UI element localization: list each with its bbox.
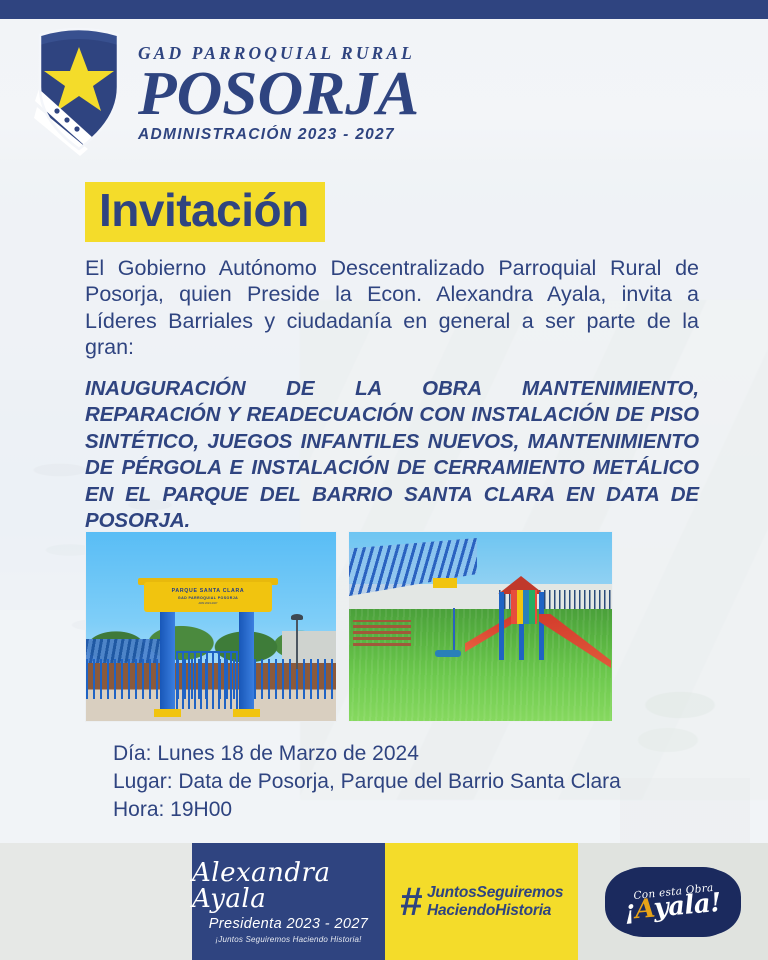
poster-footer: Alexandra Ayala Presidenta 2023 - 2027 ¡… <box>0 843 768 960</box>
shield-star-icon <box>26 25 130 157</box>
signature-role: Presidenta 2023 - 2027 <box>209 916 369 932</box>
playground-photo <box>348 531 613 722</box>
photo-tower-post <box>539 592 544 660</box>
photo-arch-sign: PARQUE SANTA CLARA GAD PARROQUIAL POSORJ… <box>144 582 272 612</box>
photo-arch-sign-line1: PARQUE SANTA CLARA <box>144 588 272 594</box>
invitation-banner: Invitación <box>85 182 325 242</box>
photo-bench <box>353 620 411 646</box>
photo-arch-sign-line3: ADM 2023-2027 <box>144 602 272 605</box>
hashtag-lockup: # JuntosSeguiremos HaciendoHistoria <box>400 884 564 920</box>
photo-column-base-right <box>233 709 260 717</box>
brand-title: POSORJA <box>138 66 420 123</box>
footer-hashtag-panel: # JuntosSeguiremos HaciendoHistoria <box>385 843 578 960</box>
invitation-banner-label: Invitación <box>99 186 309 234</box>
badge-big-text: ¡Ayala! <box>623 890 722 924</box>
photo-swing-seat <box>435 650 461 657</box>
footer-badge-panel: Con esta Obra ¡Ayala! <box>578 843 768 960</box>
wordmark: GAD PARROQUIAL RURAL POSORJA ADMINISTRAC… <box>138 25 415 144</box>
photo-gate <box>176 651 238 709</box>
photo-yellow-canopy <box>433 578 457 588</box>
brand-subtitle: ADMINISTRACIÓN 2023 - 2027 <box>138 126 415 144</box>
photo-column-base-left <box>154 709 181 717</box>
intro-paragraph: El Gobierno Autónomo Descentralizado Par… <box>85 255 699 361</box>
footer-spacer <box>0 843 192 960</box>
hashtag-line-1: JuntosSeguiremos <box>427 884 563 902</box>
photo-swing-rope <box>453 608 455 650</box>
photo-lamp-post <box>296 619 298 669</box>
park-entrance-photo: PARQUE SANTA CLARA GAD PARROQUIAL POSORJ… <box>85 531 337 722</box>
badge-rest: yala! <box>653 888 723 924</box>
hash-icon: # <box>400 885 422 919</box>
brand-lockup: GAD PARROQUIAL RURAL POSORJA ADMINISTRAC… <box>26 25 415 157</box>
event-details: Día: Lunes 18 de Marzo de 2024 Lugar: Da… <box>113 740 673 824</box>
top-accent-bar <box>0 0 768 19</box>
ayala-badge-icon: Con esta Obra ¡Ayala! <box>609 867 737 937</box>
event-place: Lugar: Data de Posorja, Parque del Barri… <box>113 768 673 796</box>
obra-paragraph: INAUGURACIÓN DE LA OBRA MANTENIMIENTO, R… <box>85 376 699 535</box>
event-time: Hora: 19H00 <box>113 796 673 824</box>
signature-tagline: ¡Juntos Seguiremos Haciendo Historia! <box>215 935 361 944</box>
footer-signature-panel: Alexandra Ayala Presidenta 2023 - 2027 ¡… <box>192 843 385 960</box>
hashtag-text: JuntosSeguiremos HaciendoHistoria <box>427 884 563 920</box>
photo-climbing-panel <box>511 590 537 624</box>
poster-header: GAD PARROQUIAL RURAL POSORJA ADMINISTRAC… <box>0 19 768 169</box>
photo-gallery: PARQUE SANTA CLARA GAD PARROQUIAL POSORJ… <box>85 531 613 722</box>
photo-arch-sign-line2: GAD PARROQUIAL POSORJA <box>144 596 272 600</box>
event-day: Día: Lunes 18 de Marzo de 2024 <box>113 740 673 768</box>
invitation-poster: GAD PARROQUIAL RURAL POSORJA ADMINISTRAC… <box>0 0 768 960</box>
signature-name: Alexandra Ayala <box>192 860 385 912</box>
photo-tower-post <box>499 592 504 660</box>
hashtag-line-2: HaciendoHistoria <box>427 902 563 920</box>
